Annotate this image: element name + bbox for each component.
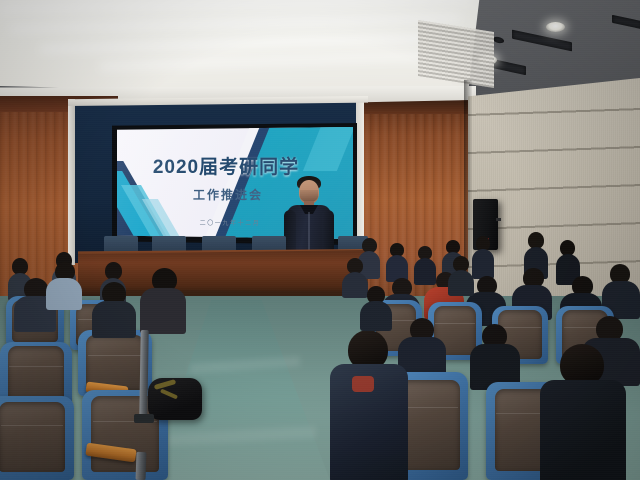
ceiling-light-panel — [0, 0, 480, 98]
seat-seam — [88, 355, 143, 356]
backpack[interactable] — [148, 378, 202, 420]
seat-cushion — [0, 402, 65, 473]
downlight-right — [546, 22, 565, 32]
audience-member-left-4 — [46, 262, 82, 306]
soffit-vent-grille — [418, 20, 494, 88]
torso — [540, 380, 626, 480]
seat-leg-aisle — [139, 330, 149, 418]
presenter-zipper — [308, 212, 310, 256]
slide-date: 二〇一九年十二月 — [200, 218, 261, 227]
torso — [360, 301, 392, 331]
audience-member-mid-3 — [448, 256, 474, 294]
audience-member-mid-2 — [360, 286, 392, 328]
audience-member-front-right-1 — [330, 330, 408, 480]
seat-left-front-1[interactable] — [0, 396, 74, 480]
seat-foot-aisle — [134, 414, 154, 423]
scarf — [352, 376, 374, 392]
torso — [92, 301, 136, 338]
torso — [472, 249, 494, 279]
seat-seam — [9, 366, 62, 367]
seat-cushion — [400, 380, 459, 471]
seat-seam — [402, 407, 458, 408]
slide-title: 2020届考研同学 — [153, 152, 299, 179]
audience-member-front-right-2 — [540, 344, 626, 480]
torso — [46, 278, 82, 310]
screen-trim-left — [68, 99, 75, 265]
seat-seam — [1, 425, 63, 426]
slide-subtitle: 工作推进会 — [193, 186, 263, 203]
speaker-bracket — [496, 218, 501, 221]
seat-leg-front — [136, 452, 147, 480]
torso — [448, 270, 474, 296]
audience-member-back-5 — [472, 236, 494, 278]
backpack-strap-2 — [160, 389, 178, 400]
audience-member-right-7 — [470, 324, 520, 386]
torso — [140, 288, 186, 334]
conference-room-photo: 2020届考研同学 工作推进会 二〇一九年十二月 — [0, 0, 640, 480]
audience-member-left-3 — [140, 268, 186, 330]
audience-member-back-2 — [386, 243, 408, 281]
audience-member-left-2 — [92, 282, 136, 334]
seat-cushion — [8, 346, 64, 400]
backpack-strap-1 — [154, 379, 177, 390]
